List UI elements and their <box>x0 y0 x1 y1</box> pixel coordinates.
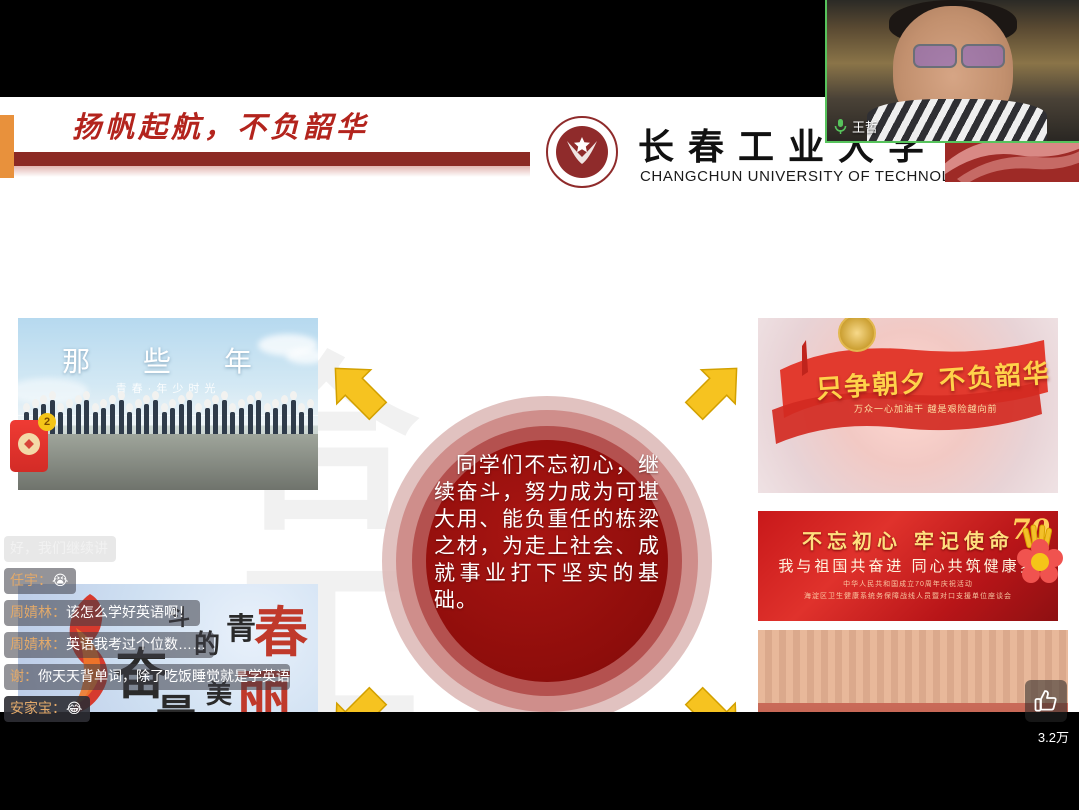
student-head <box>195 403 202 412</box>
photo-caption-those-years: 那 些 年 <box>62 340 274 380</box>
center-message-text: 同学们不忘初心，继续奋斗，努力成为可堪大用、能负重任的栋梁之材，为走上社会、成就… <box>434 452 660 676</box>
student-head <box>49 391 56 400</box>
student-figure <box>93 412 98 434</box>
cloud-shape <box>286 348 318 364</box>
chat-message[interactable]: 任宇：😭 <box>4 568 76 594</box>
student-head <box>118 391 125 400</box>
university-name-en: CHANGCHUN UNIVERSITY OF TECHNOLOGY <box>640 168 986 185</box>
speaker-name-badge: 王哲 <box>834 117 878 136</box>
chat-sender-name: 安家宝： <box>10 700 66 716</box>
student-head <box>221 391 228 400</box>
chat-message-text: 英语我考过个位数…… <box>66 636 206 652</box>
student-head <box>247 395 254 404</box>
student-head <box>307 399 314 408</box>
chat-message-text: 😂 <box>66 700 82 716</box>
student-head <box>281 395 288 404</box>
student-head <box>161 403 168 412</box>
ground-area <box>18 434 318 490</box>
student-head <box>135 399 142 408</box>
student-figure <box>256 400 261 434</box>
student-figure <box>162 412 167 434</box>
student-figure <box>127 412 132 434</box>
student-head <box>178 395 185 404</box>
student-head <box>66 399 73 408</box>
student-figure <box>265 412 270 434</box>
student-figure <box>101 408 106 434</box>
banner-detail-line-1: 中华人民共和国成立70周年庆祝活动 <box>843 579 973 589</box>
banner-headline: 不忘初心 牢记使命 <box>802 525 1014 554</box>
photo-those-years: 那 些 年 青春·年少时光 <box>18 318 318 490</box>
student-figure <box>222 400 227 434</box>
thumbs-up-icon <box>1033 688 1059 714</box>
red-envelope-badge: 2 <box>38 413 56 431</box>
student-figure <box>248 404 253 434</box>
chat-message[interactable]: 好，我们继续讲 <box>4 536 116 562</box>
header-gradient-bar <box>14 166 530 177</box>
chat-message[interactable]: 周婧林：该怎么学好英语啊！ <box>4 600 200 626</box>
chat-sender-name: 任宇： <box>10 572 52 588</box>
chorus-performers-row <box>758 697 1068 713</box>
chat-message-text: 😭 <box>52 572 68 588</box>
chat-message-row: 好，我们继续讲 <box>0 536 300 568</box>
student-figure <box>230 412 235 434</box>
student-figure <box>282 404 287 434</box>
student-head <box>23 403 30 412</box>
university-seal-icon <box>546 116 618 188</box>
like-button[interactable] <box>1025 680 1067 722</box>
banner-detail-line-2: 海淀区卫生健康系统务保障战线人员暨对口支援单位座谈会 <box>804 591 1012 601</box>
eyeglass-left <box>913 44 957 68</box>
square-backdrop <box>758 630 1068 703</box>
chat-sender-name: 谢： <box>10 668 38 684</box>
chat-sender-name: 周婧林： <box>10 604 66 620</box>
student-head <box>204 399 211 408</box>
chat-sender-name: 周婧林： <box>10 636 66 652</box>
slide-title: 扬帆起航，不负韶华 <box>72 103 502 151</box>
student-head <box>109 395 116 404</box>
red-envelope-coin-icon <box>18 433 40 455</box>
student-head <box>75 395 82 404</box>
chat-message[interactable]: 周婧林：英语我考过个位数…… <box>4 632 214 658</box>
header-maroon-bar <box>14 152 530 166</box>
student-head <box>152 391 159 400</box>
chat-message[interactable]: 安家宝：😂 <box>4 696 90 722</box>
chat-message-row: 任宇：😭 <box>0 568 300 600</box>
student-figure <box>179 404 184 434</box>
student-figure <box>136 408 141 434</box>
photo-subcaption: 青春·年少时光 <box>116 380 221 396</box>
microphone-icon <box>834 119 847 134</box>
student-figure <box>170 408 175 434</box>
chat-message-row: 谢：你天天背单词，除了吃饭睡觉就是学英语 <box>0 664 300 696</box>
center-circle-graphic: 同学们不忘初心，继续奋斗，努力成为可堪大用、能负重任的栋梁之材，为走上社会、成就… <box>382 396 712 712</box>
speaker-video-tile[interactable]: 王哲 <box>825 0 1079 143</box>
flower-sticker <box>1017 539 1063 585</box>
student-head <box>92 403 99 412</box>
header-orange-accent <box>0 115 14 178</box>
student-head <box>238 399 245 408</box>
student-figure <box>299 412 304 434</box>
chat-message[interactable]: 谢：你天天背单词，除了吃饭睡觉就是学英语 <box>4 664 290 690</box>
student-figure <box>196 412 201 434</box>
student-figure <box>187 400 192 434</box>
student-figure <box>58 412 63 434</box>
chat-message-row: 安家宝：😂 <box>0 696 300 728</box>
student-head <box>32 399 39 408</box>
student-head <box>264 403 271 412</box>
chat-message-row: 周婧林：该怎么学好英语啊！ <box>0 600 300 632</box>
poster-subtitle: 万众一心加油干 越是艰险越向前 <box>854 402 998 415</box>
student-figure <box>119 400 124 434</box>
student-head <box>290 391 297 400</box>
student-figure <box>144 404 149 434</box>
student-figure <box>291 400 296 434</box>
photo-original-aspiration-banner: 70 不忘初心 牢记使命 我与祖国共奋进 同心共筑健康梦 中华人民共和国成立70… <box>758 511 1058 621</box>
speaker-name: 王哲 <box>852 117 878 136</box>
screen: 扬帆起航，不负韶华 长春工业大学 CHANGCHUN UNIVERSITY OF… <box>0 0 1079 810</box>
student-figure <box>239 408 244 434</box>
chat-message-text: 该怎么学好英语啊！ <box>66 604 192 620</box>
chat-message-list[interactable]: 好，我们继续讲任宇：😭周婧林：该怎么学好英语啊！周婧林：英语我考过个位数……谢：… <box>0 536 300 728</box>
chat-message-row: 周婧林：英语我考过个位数…… <box>0 632 300 664</box>
student-figure <box>76 404 81 434</box>
eyeglass-right <box>961 44 1005 68</box>
red-envelope-button[interactable]: 2 <box>10 420 48 472</box>
photo-chorus-performance <box>758 630 1068 712</box>
letterbox-top <box>0 0 825 97</box>
student-figure <box>213 404 218 434</box>
photo-red-flag-poster: 只争朝夕 不负韶华 万众一心加油干 越是艰险越向前 <box>758 318 1058 493</box>
student-figure <box>308 408 313 434</box>
student-figure <box>205 408 210 434</box>
speaker-shirt <box>867 99 1047 141</box>
chat-message-text: 好，我们继续讲 <box>10 540 108 556</box>
student-figure <box>273 408 278 434</box>
banner-subheadline: 我与祖国共奋进 同心共筑健康梦 <box>778 555 1037 576</box>
student-figure <box>84 400 89 434</box>
seal-emblem-icon <box>565 137 599 167</box>
student-figure <box>110 404 115 434</box>
chat-message-text: 你天天背单词，除了吃饭睡觉就是学英语 <box>38 668 290 684</box>
like-count: 3.2万 <box>1038 727 1069 746</box>
student-figure <box>67 408 72 434</box>
student-figure <box>153 400 158 434</box>
